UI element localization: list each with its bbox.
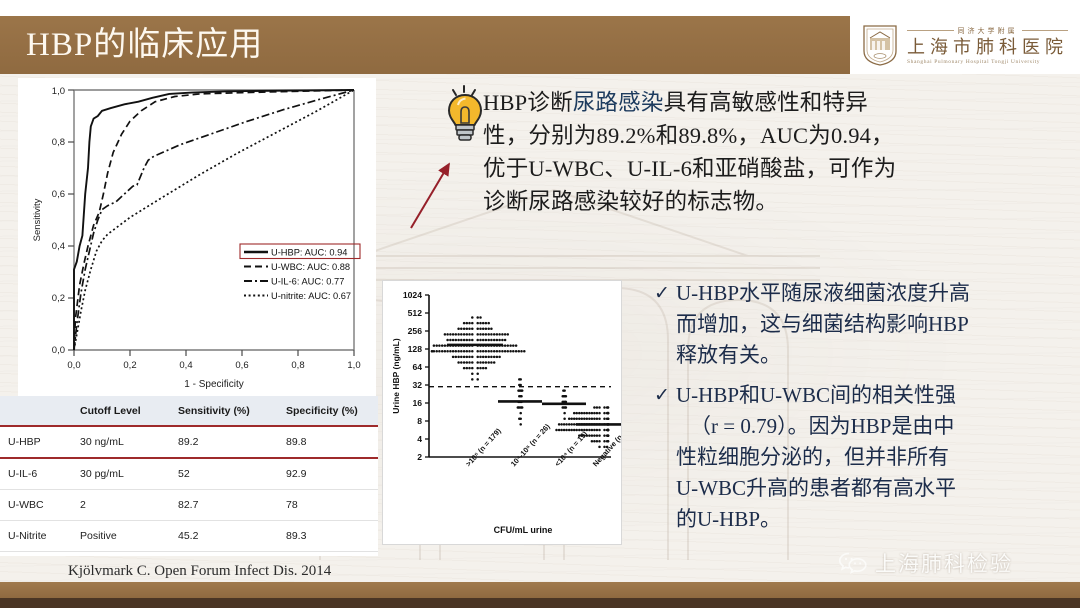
- scatter-point: [471, 339, 474, 342]
- scatter-point: [468, 361, 471, 364]
- scatter-point: [565, 406, 568, 409]
- scatter-point: [463, 367, 466, 370]
- scatter-point: [607, 412, 610, 415]
- scatter-point: [501, 339, 504, 342]
- roc-ytick-3: 0,6: [52, 189, 65, 200]
- scatter-xtick-2: <10⁴ (n = 19): [553, 429, 590, 468]
- scatter-point: [449, 333, 452, 336]
- scatter-point: [493, 333, 496, 336]
- scatter-point: [568, 423, 571, 426]
- scatter-point: [457, 339, 460, 342]
- scatter-point: [518, 384, 521, 387]
- scatter-point: [501, 333, 504, 336]
- scatter-point: [496, 350, 499, 353]
- bullet-line: 性粒细胞分泌的，但并非所有: [676, 442, 1074, 473]
- scatter-point: [433, 344, 436, 347]
- scatter-point: [487, 356, 490, 359]
- scatter-point: [518, 418, 521, 421]
- scatter-point: [490, 328, 493, 331]
- scatter-point: [471, 333, 474, 336]
- roc-series-1: [74, 90, 354, 350]
- scatter-point: [482, 361, 485, 364]
- scatter-point: [452, 350, 455, 353]
- scatter-point: [591, 412, 594, 415]
- scatter-point: [518, 350, 521, 353]
- scatter-point: [575, 412, 578, 415]
- scatter-point: [588, 412, 591, 415]
- scatter-point: [482, 333, 485, 336]
- scatter-point: [479, 322, 482, 325]
- scatter-point: [570, 418, 573, 421]
- scatter-point: [507, 344, 510, 347]
- bullet-line: （r = 0.79）。因为HBP是由中: [676, 411, 1074, 442]
- scatter-point: [468, 333, 471, 336]
- scatter-point: [523, 350, 526, 353]
- bullet-line: U-HBP和U-WBC间的相关性强: [676, 380, 1074, 411]
- scatter-point: [449, 350, 452, 353]
- scatter-point: [487, 322, 490, 325]
- scatter-point: [460, 356, 463, 359]
- crest-icon: [862, 23, 898, 67]
- scatter-point: [487, 350, 490, 353]
- scatter-point: [482, 350, 485, 353]
- scatter-point: [457, 333, 460, 336]
- cell-sensitivity: 45.2: [170, 521, 278, 552]
- cell-sensitivity: 82.7: [170, 490, 278, 521]
- scatter-point: [563, 418, 566, 421]
- scatter-point: [593, 412, 596, 415]
- scatter-point: [455, 356, 458, 359]
- roc-legend-label-1: U-WBC: AUC: 0.88: [271, 262, 350, 272]
- scatter-point: [493, 361, 496, 364]
- scatter-point: [558, 423, 561, 426]
- para-line1-b: 具有高敏感性和特异: [664, 90, 868, 115]
- scatter-point: [471, 356, 474, 359]
- scatter-point: [468, 328, 471, 331]
- scatter-point: [435, 344, 438, 347]
- para-line-3: 优于U-WBC、U-IL-6和亚硝酸盐，可作为: [483, 152, 1043, 185]
- scatter-point: [596, 412, 599, 415]
- scatter-point: [490, 339, 493, 342]
- scatter-point: [591, 418, 594, 421]
- scatter-yaxis-label: Urine HBP (ng/mL): [391, 338, 401, 414]
- cell-cutoff: 30 pg/mL: [72, 458, 170, 490]
- scatter-point: [603, 406, 606, 409]
- scatter-point: [561, 406, 564, 409]
- scatter-point: [466, 328, 469, 331]
- scatter-point: [583, 418, 586, 421]
- scatter-point: [438, 344, 441, 347]
- scatter-point: [591, 434, 594, 437]
- scatter-point: [519, 423, 522, 426]
- scatter-point: [457, 361, 460, 364]
- scatter-point: [607, 429, 610, 432]
- scatter-point: [444, 344, 447, 347]
- scatter-point: [466, 356, 469, 359]
- scatter-point: [568, 429, 571, 432]
- cell-marker: U-IL-6: [0, 458, 72, 490]
- scatter-ytick-32: 32: [412, 380, 422, 390]
- top-white-strip: [0, 0, 1080, 16]
- th-cutoff: Cutoff Level: [72, 396, 170, 426]
- para-line1-highlight: 尿路感染: [573, 90, 664, 115]
- scatter-point: [593, 434, 596, 437]
- th-specificity: Specificity (%): [278, 396, 378, 426]
- scatter-point: [563, 423, 566, 426]
- scatter-point: [471, 378, 474, 381]
- scatter-ytick-512: 512: [408, 308, 423, 318]
- scatter-point: [581, 418, 584, 421]
- scatter-point: [586, 412, 589, 415]
- scatter-point: [561, 395, 564, 398]
- scatter-point: [471, 328, 474, 331]
- roc-xtick-1: 0,2: [123, 360, 136, 371]
- table-row: U-HBP30 ng/mL89.289.8: [0, 426, 378, 458]
- scatter-point: [509, 344, 512, 347]
- scatter-point: [438, 350, 441, 353]
- scatter-point: [444, 333, 447, 336]
- th-marker: [0, 396, 72, 426]
- scatter-point: [468, 367, 471, 370]
- scatter-point: [517, 406, 520, 409]
- scatter-point: [468, 356, 471, 359]
- scatter-point: [507, 350, 510, 353]
- scatter-point: [485, 328, 488, 331]
- scatter-point: [479, 350, 482, 353]
- logo-chinese-name: 上海市肺科医院: [907, 37, 1068, 57]
- scatter-svg: 2481632641282565121024 Urine HBP (ng/mL)…: [383, 281, 621, 544]
- scatter-point: [568, 418, 571, 421]
- scatter-point: [596, 440, 599, 443]
- scatter-point: [509, 350, 512, 353]
- scatter-point: [496, 356, 499, 359]
- scatter-point: [463, 333, 466, 336]
- roc-series-2: [74, 90, 354, 350]
- scatter-point: [498, 350, 501, 353]
- cell-specificity: 92.9: [278, 458, 378, 490]
- scatter-point: [560, 423, 563, 426]
- table-row: U-IL-630 pg/mL5292.9: [0, 458, 378, 490]
- roc-series-0: [74, 90, 354, 350]
- check-icon: ✓: [654, 380, 676, 535]
- scatter-point: [485, 322, 488, 325]
- roc-xtick-5: 1,0: [347, 360, 360, 371]
- scatter-point: [596, 434, 599, 437]
- scatter-point: [468, 322, 471, 325]
- scatter-point: [496, 339, 499, 342]
- scatter-point: [598, 406, 601, 409]
- scatter-point: [498, 356, 501, 359]
- scatter-point: [504, 333, 507, 336]
- scatter-point: [512, 350, 515, 353]
- wechat-watermark: 上海肺科检验: [838, 548, 1013, 578]
- scatter-point: [586, 418, 589, 421]
- scatter-point: [460, 361, 463, 364]
- scatter-point: [482, 322, 485, 325]
- cell-specificity: 78: [278, 490, 378, 521]
- roc-legend-label-3: U-nitrite: AUC: 0.67: [271, 291, 351, 301]
- scatter-point: [446, 333, 449, 336]
- scatter-point: [591, 440, 594, 443]
- scatter-point: [485, 361, 488, 364]
- scatter-point: [471, 316, 474, 319]
- scatter-point: [603, 440, 606, 443]
- scatter-point: [460, 339, 463, 342]
- roc-ytick-5: 1,0: [52, 86, 65, 97]
- roc-legend-label-0: U-HBP: AUC: 0.94: [271, 248, 347, 258]
- scatter-point: [504, 339, 507, 342]
- scatter-point: [452, 333, 455, 336]
- scatter-point: [466, 361, 469, 364]
- scatter-point: [596, 418, 599, 421]
- scatter-point: [446, 339, 449, 342]
- bullet-line: 而增加，这与细菌结构影响HBP: [676, 309, 1074, 340]
- scatter-point: [460, 333, 463, 336]
- statistics-table: Cutoff Level Sensitivity (%) Specificity…: [0, 396, 378, 556]
- scatter-point: [479, 333, 482, 336]
- scatter-point: [487, 333, 490, 336]
- scatter-point: [588, 418, 591, 421]
- scatter-point: [575, 418, 578, 421]
- scatter-point: [490, 361, 493, 364]
- scatter-ytick-128: 128: [408, 344, 423, 354]
- scatter-point: [573, 429, 576, 432]
- scatter-point: [466, 350, 469, 353]
- scatter-point: [457, 328, 460, 331]
- scatter-point: [485, 339, 488, 342]
- scatter-point: [485, 350, 488, 353]
- bullet-item: ✓U-HBP和U-WBC间的相关性强（r = 0.79）。因为HBP是由中性粒细…: [654, 380, 1074, 535]
- roc-curve-chart: 0,0 0,2 0,4 0,6 0,8 1,0 0,0 0,2 0,4 0,6: [18, 78, 376, 396]
- scatter-point: [476, 339, 479, 342]
- scatter-point: [598, 429, 601, 432]
- scatter-point: [493, 339, 496, 342]
- scatter-ytick-2: 2: [417, 452, 422, 462]
- table-header-row: Cutoff Level Sensitivity (%) Specificity…: [0, 396, 378, 426]
- scatter-point: [479, 361, 482, 364]
- scatter-point: [487, 328, 490, 331]
- roc-xtick-0: 0,0: [67, 360, 80, 371]
- scatter-point: [431, 350, 434, 353]
- scatter-point: [479, 316, 482, 319]
- scatter-point: [463, 350, 466, 353]
- scatter-point: [496, 333, 499, 336]
- scatter-point: [466, 367, 469, 370]
- scatter-point: [476, 350, 479, 353]
- hbp-cfu-scatter-chart: 2481632641282565121024 Urine HBP (ng/mL)…: [382, 280, 622, 545]
- bullet-line: 释放有关。: [676, 340, 1074, 371]
- scatter-point: [518, 378, 521, 381]
- scatter-point: [460, 350, 463, 353]
- slide-canvas: HBP的临床应用 同济大学附属 上海市肺科医院 Shanghai Pulmona…: [0, 0, 1080, 608]
- scatter-point: [463, 339, 466, 342]
- scatter-point: [479, 356, 482, 359]
- scatter-point: [476, 328, 479, 331]
- scatter-point: [493, 356, 496, 359]
- scatter-point: [482, 367, 485, 370]
- cell-cutoff: Positive: [72, 521, 170, 552]
- scatter-ytick-256: 256: [408, 326, 423, 336]
- scatter-xaxis-label: CFU/mL urine: [494, 525, 553, 535]
- roc-xtick-3: 0,6: [235, 360, 248, 371]
- cell-sensitivity: 52: [170, 458, 278, 490]
- scatter-point: [519, 412, 522, 415]
- scatter-point: [498, 339, 501, 342]
- cell-specificity: 89.8: [278, 426, 378, 458]
- scatter-point: [512, 344, 515, 347]
- roc-xaxis-label: 1 - Specificity: [184, 379, 243, 390]
- scatter-ytick-16: 16: [412, 398, 422, 408]
- scatter-point: [593, 440, 596, 443]
- roc-xtick-4: 0,8: [291, 360, 304, 371]
- scatter-point: [565, 423, 568, 426]
- footer-bar-dark: [0, 598, 1080, 608]
- scatter-point: [485, 333, 488, 336]
- citation: Kjölvmark C. Open Forum Infect Dis. 2014: [68, 563, 331, 580]
- scatter-point: [460, 328, 463, 331]
- scatter-point: [598, 446, 601, 449]
- scatter-point: [476, 356, 479, 359]
- scatter-point: [563, 412, 566, 415]
- scatter-xtick-0: >10⁵ (n = 179): [464, 426, 503, 468]
- para-line-2: 性，分别为89.2%和89.8%，AUC为0.94，: [483, 119, 1043, 152]
- scatter-point: [607, 434, 610, 437]
- scatter-point: [588, 429, 591, 432]
- scatter-point: [586, 429, 589, 432]
- scatter-point: [466, 333, 469, 336]
- key-findings-paragraph: HBP诊断尿路感染具有高敏感性和特异 性，分别为89.2%和89.8%，AUC为…: [483, 86, 1043, 218]
- scatter-point: [482, 356, 485, 359]
- scatter-point: [463, 356, 466, 359]
- scatter-point: [504, 350, 507, 353]
- scatter-point: [517, 389, 520, 392]
- footer-bar: [0, 582, 1080, 598]
- scatter-point: [476, 378, 479, 381]
- scatter-point: [521, 406, 524, 409]
- bullet-line: 的U-HBP。: [676, 504, 1074, 535]
- scatter-point: [563, 429, 566, 432]
- scatter-point: [441, 350, 444, 353]
- scatter-point: [593, 418, 596, 421]
- scatter-point: [490, 333, 493, 336]
- scatter-point: [468, 350, 471, 353]
- scatter-point: [507, 333, 510, 336]
- scatter-point: [446, 350, 449, 353]
- scatter-point: [603, 429, 606, 432]
- roc-ytick-2: 0,4: [52, 241, 65, 252]
- scatter-point: [573, 412, 576, 415]
- scatter-point: [471, 322, 474, 325]
- scatter-point: [471, 350, 474, 353]
- roc-svg: 0,0 0,2 0,4 0,6 0,8 1,0 0,0 0,2 0,4 0,6: [18, 78, 376, 396]
- scatter-point: [471, 373, 474, 376]
- red-arrow: [405, 150, 460, 235]
- scatter-point: [493, 350, 496, 353]
- scatter-point: [463, 322, 466, 325]
- scatter-point: [449, 339, 452, 342]
- th-sensitivity: Sensitivity (%): [170, 396, 278, 426]
- scatter-point: [476, 333, 479, 336]
- roc-series-3: [74, 90, 354, 350]
- scatter-point: [476, 373, 479, 376]
- roc-ytick-4: 0,8: [52, 137, 65, 148]
- scatter-point: [476, 367, 479, 370]
- scatter-point: [479, 339, 482, 342]
- scatter-point: [607, 406, 610, 409]
- scatter-point: [463, 328, 466, 331]
- scatter-point: [455, 333, 458, 336]
- scatter-ytick-64: 64: [412, 362, 422, 372]
- scatter-point: [482, 339, 485, 342]
- roc-yaxis-label: Sensitivity: [32, 198, 43, 241]
- scatter-point: [452, 356, 455, 359]
- cell-cutoff: 2: [72, 490, 170, 521]
- scatter-xtick-1: 10⁴-10⁵ (n = 26): [509, 422, 552, 469]
- roc-legend-label-2: U-IL-6: AUC: 0.77: [271, 277, 344, 287]
- scatter-point: [558, 429, 561, 432]
- scatter-point: [573, 423, 576, 426]
- scatter-point: [466, 339, 469, 342]
- roc-ytick-1: 0,2: [52, 293, 65, 304]
- scatter-point: [463, 361, 466, 364]
- wechat-icon: [838, 551, 868, 575]
- scatter-point: [457, 356, 460, 359]
- roc-ytick-0: 0,0: [52, 345, 65, 356]
- scatter-point: [476, 316, 479, 319]
- scatter-point: [476, 361, 479, 364]
- bullet-item: ✓U-HBP水平随尿液细菌浓度升高而增加，这与细菌结构影响HBP释放有关。: [654, 278, 1074, 371]
- scatter-point: [504, 344, 507, 347]
- scatter-point: [521, 389, 524, 392]
- check-icon: ✓: [654, 278, 676, 371]
- scatter-point: [457, 350, 460, 353]
- scatter-point: [555, 429, 558, 432]
- institution-logo: 同济大学附属 上海市肺科医院 Shanghai Pulmonary Hospit…: [850, 16, 1080, 74]
- page-title: HBP的临床应用: [26, 22, 263, 68]
- scatter-point: [479, 367, 482, 370]
- scatter-point: [487, 339, 490, 342]
- scatter-point: [485, 356, 488, 359]
- roc-xtick-2: 0,4: [179, 360, 192, 371]
- scatter-point: [485, 367, 488, 370]
- cell-sensitivity: 89.2: [170, 426, 278, 458]
- scatter-point: [607, 418, 610, 421]
- scatter-point: [583, 412, 586, 415]
- scatter-point: [515, 350, 518, 353]
- scatter-point: [441, 344, 444, 347]
- scatter-point: [501, 350, 504, 353]
- scatter-point: [468, 339, 471, 342]
- scatter-point: [560, 429, 563, 432]
- scatter-point: [603, 434, 606, 437]
- scatter-ytick-8: 8: [417, 416, 422, 426]
- scatter-point: [487, 361, 490, 364]
- scatter-point: [471, 367, 474, 370]
- logo-english-name: Shanghai Pulmonary Hospital Tongji Unive…: [907, 59, 1068, 65]
- scatter-point: [593, 406, 596, 409]
- para-line-1: HBP诊断尿路感染具有高敏感性和特异: [483, 86, 1043, 119]
- scatter-point: [455, 350, 458, 353]
- cell-marker: U-HBP: [0, 426, 72, 458]
- scatter-point: [598, 418, 601, 421]
- scatter-point: [581, 412, 584, 415]
- scatter-point: [603, 412, 606, 415]
- scatter-point: [466, 322, 469, 325]
- para-line-4: 诊断尿路感染较好的标志物。: [483, 185, 1043, 218]
- scatter-point: [598, 412, 601, 415]
- scatter-point: [498, 333, 501, 336]
- scatter-point: [578, 418, 581, 421]
